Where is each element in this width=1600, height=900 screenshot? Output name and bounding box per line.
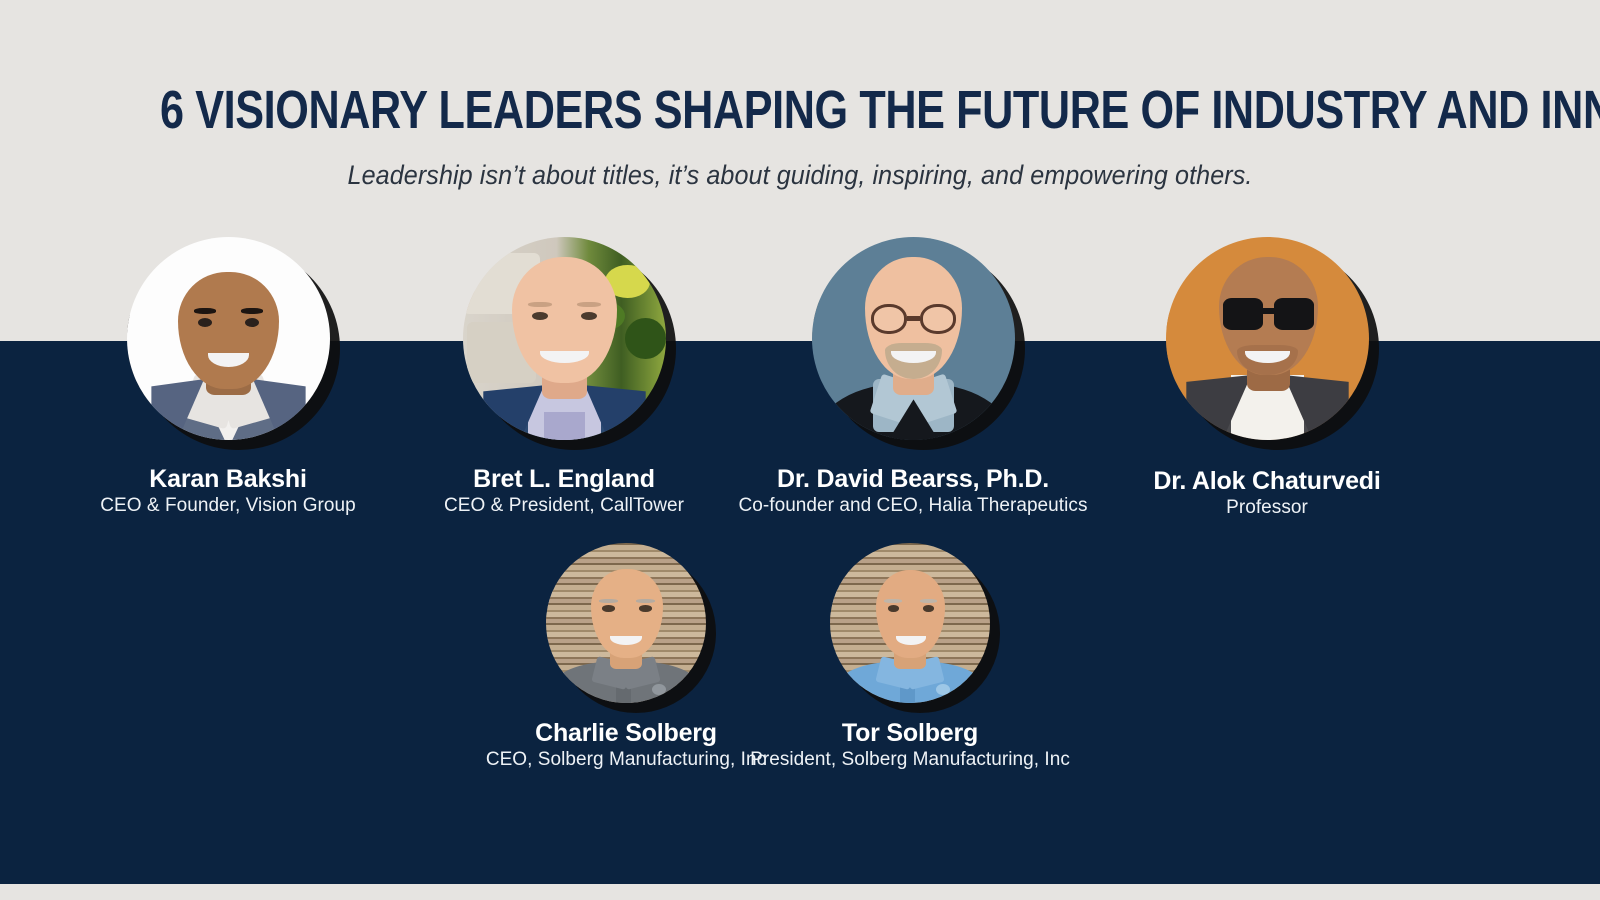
person-name: Tor Solberg xyxy=(698,719,1122,748)
person-role: Professor xyxy=(1055,497,1479,519)
page-subtitle: Leadership isn’t about titles, it’s abou… xyxy=(56,160,1544,191)
avatar-bret-l-england[interactable] xyxy=(463,237,666,440)
avatar-photo xyxy=(463,237,666,440)
leaders-infographic: 6 VISIONARY LEADERS SHAPING THE FUTURE O… xyxy=(0,0,1600,900)
avatar-photo xyxy=(1166,237,1369,440)
avatar-photo xyxy=(830,543,990,703)
avatar-photo xyxy=(812,237,1015,440)
bottom-light-strip xyxy=(0,884,1600,900)
avatar-charlie-solberg[interactable] xyxy=(546,543,706,703)
avatar-dr-david-bearss[interactable] xyxy=(812,237,1015,440)
person-role: President, Solberg Manufacturing, Inc xyxy=(698,749,1122,771)
avatar-photo xyxy=(546,543,706,703)
avatar-dr-alok-chaturvedi[interactable] xyxy=(1166,237,1369,440)
page-title: 6 VISIONARY LEADERS SHAPING THE FUTURE O… xyxy=(160,82,1440,138)
avatar-photo xyxy=(127,237,330,440)
avatar-karan-bakshi[interactable] xyxy=(127,237,330,440)
person-name: Dr. Alok Chaturvedi xyxy=(1055,467,1479,496)
avatar-tor-solberg[interactable] xyxy=(830,543,990,703)
